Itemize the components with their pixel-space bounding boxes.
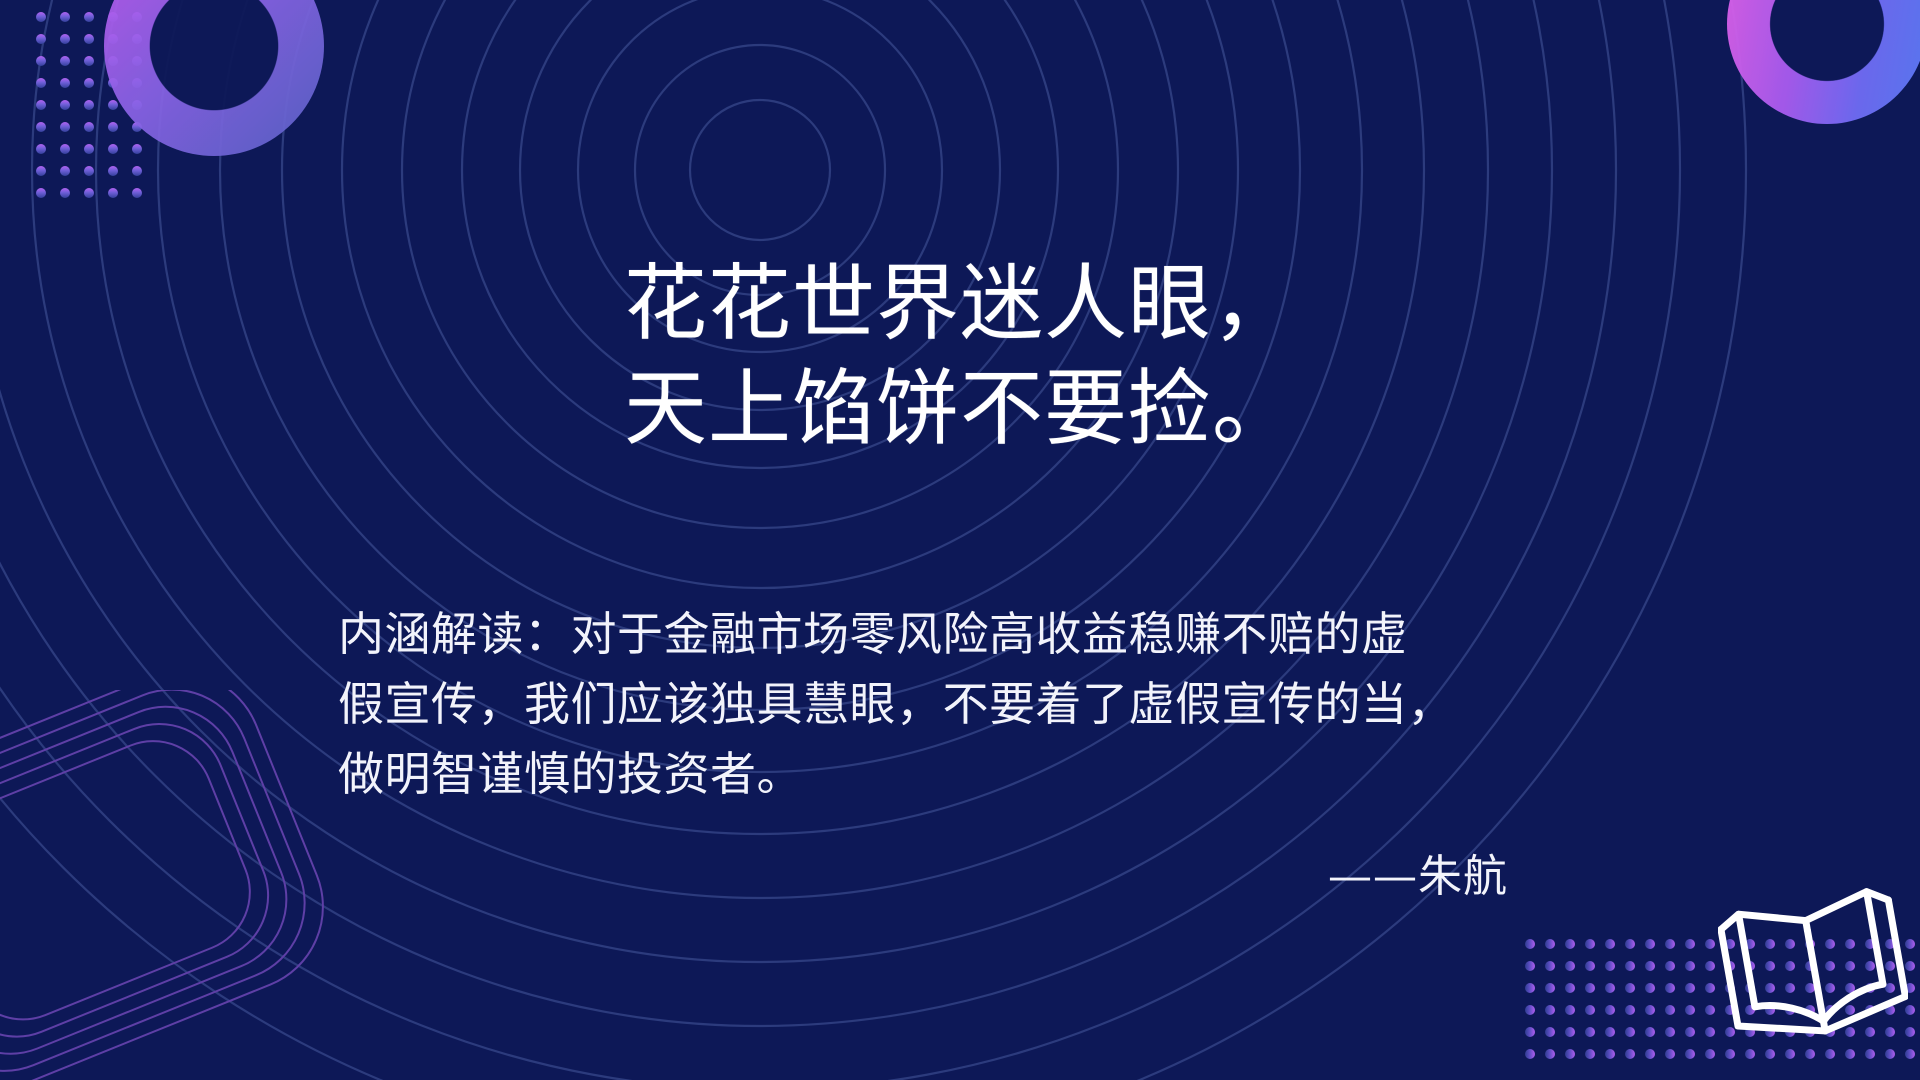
page-title: 花花世界迷人眼， 天上馅饼不要捡。 xyxy=(0,252,1920,461)
attribution-line: ——朱航 xyxy=(338,840,1508,904)
slide-canvas: 花花世界迷人眼， 天上馅饼不要捡。 内涵解读：对于金融市场零风险高收益稳赚不赔的… xyxy=(0,0,1920,1080)
body-paragraph: 内涵解读：对于金融市场零风险高收益稳赚不赔的虚 假宣传，我们应该独具慧眼，不要着… xyxy=(338,600,1638,810)
slide-content: 花花世界迷人眼， 天上馅饼不要捡。 内涵解读：对于金融市场零风险高收益稳赚不赔的… xyxy=(0,0,1920,1080)
